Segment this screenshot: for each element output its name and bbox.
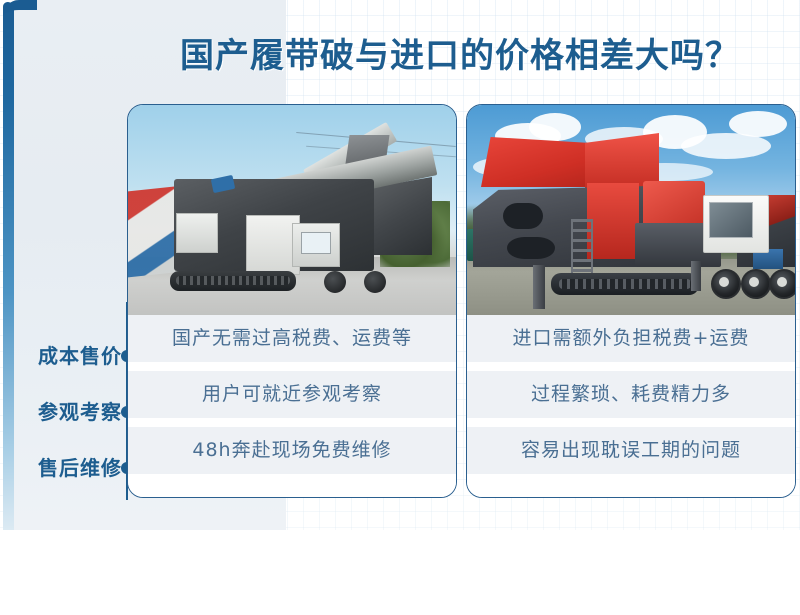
photo-imported-crawler-crusher	[467, 105, 795, 315]
row-label-service: 售后维修	[10, 453, 122, 483]
row-separator	[128, 418, 456, 427]
row-imported-visit: 过程繁琐、耗费精力多	[467, 371, 795, 418]
card-domestic[interactable]: 国产无需过高税费、运费等 用户可就近参观考察 48h奔赴现场免费维修	[127, 104, 457, 498]
row-imported-cost: 进口需额外负担税费+运费	[467, 315, 795, 362]
row-separator	[467, 362, 795, 371]
cloud	[529, 113, 581, 141]
page-title: 国产履带破与进口的价格相差大吗？	[160, 30, 760, 82]
row-separator	[467, 418, 795, 427]
row-domestic-service: 48h奔赴现场免费维修	[128, 427, 456, 474]
row-domestic-visit: 用户可就近参观考察	[128, 371, 456, 418]
wheel	[324, 271, 346, 293]
support-leg	[533, 265, 545, 309]
support-leg	[691, 261, 701, 291]
crawler-track	[170, 271, 296, 291]
card-footer-space	[467, 474, 795, 498]
wheel	[364, 271, 386, 293]
left-accent-bar	[3, 2, 14, 530]
red-crusher-unit	[587, 183, 639, 259]
operator-cab	[703, 195, 769, 253]
cloud	[729, 111, 787, 137]
rows-domestic: 国产无需过高税费、运费等 用户可就近参观考察 48h奔赴现场免费维修	[128, 315, 456, 498]
crawler-track	[551, 273, 699, 295]
trailer-wheel	[711, 269, 741, 299]
card-imported[interactable]: 进口需额外负担税费+运费 过程繁琐、耗费精力多 容易出现耽误工期的问题	[466, 104, 796, 498]
panel-window	[301, 232, 331, 254]
row-domestic-cost: 国产无需过高税费、运费等	[128, 315, 456, 362]
card-footer-space	[128, 474, 456, 498]
control-panel	[292, 223, 340, 267]
chassis-cutout	[503, 203, 543, 229]
row-separator	[128, 362, 456, 371]
row-label-visit: 参观考察	[10, 397, 122, 427]
row-label-cost: 成本售价	[10, 341, 122, 371]
rows-imported: 进口需额外负担税费+运费 过程繁琐、耗费精力多 容易出现耽误工期的问题	[467, 315, 795, 498]
control-box	[176, 213, 218, 253]
trailer-wheel	[769, 269, 795, 299]
trailer-wheel	[741, 269, 771, 299]
row-imported-service: 容易出现耽误工期的问题	[467, 427, 795, 474]
chassis-cutout	[507, 237, 555, 259]
left-accent-cap	[3, 0, 37, 26]
cab-window	[709, 202, 753, 238]
photo-domestic-crawler-crusher	[128, 105, 456, 315]
